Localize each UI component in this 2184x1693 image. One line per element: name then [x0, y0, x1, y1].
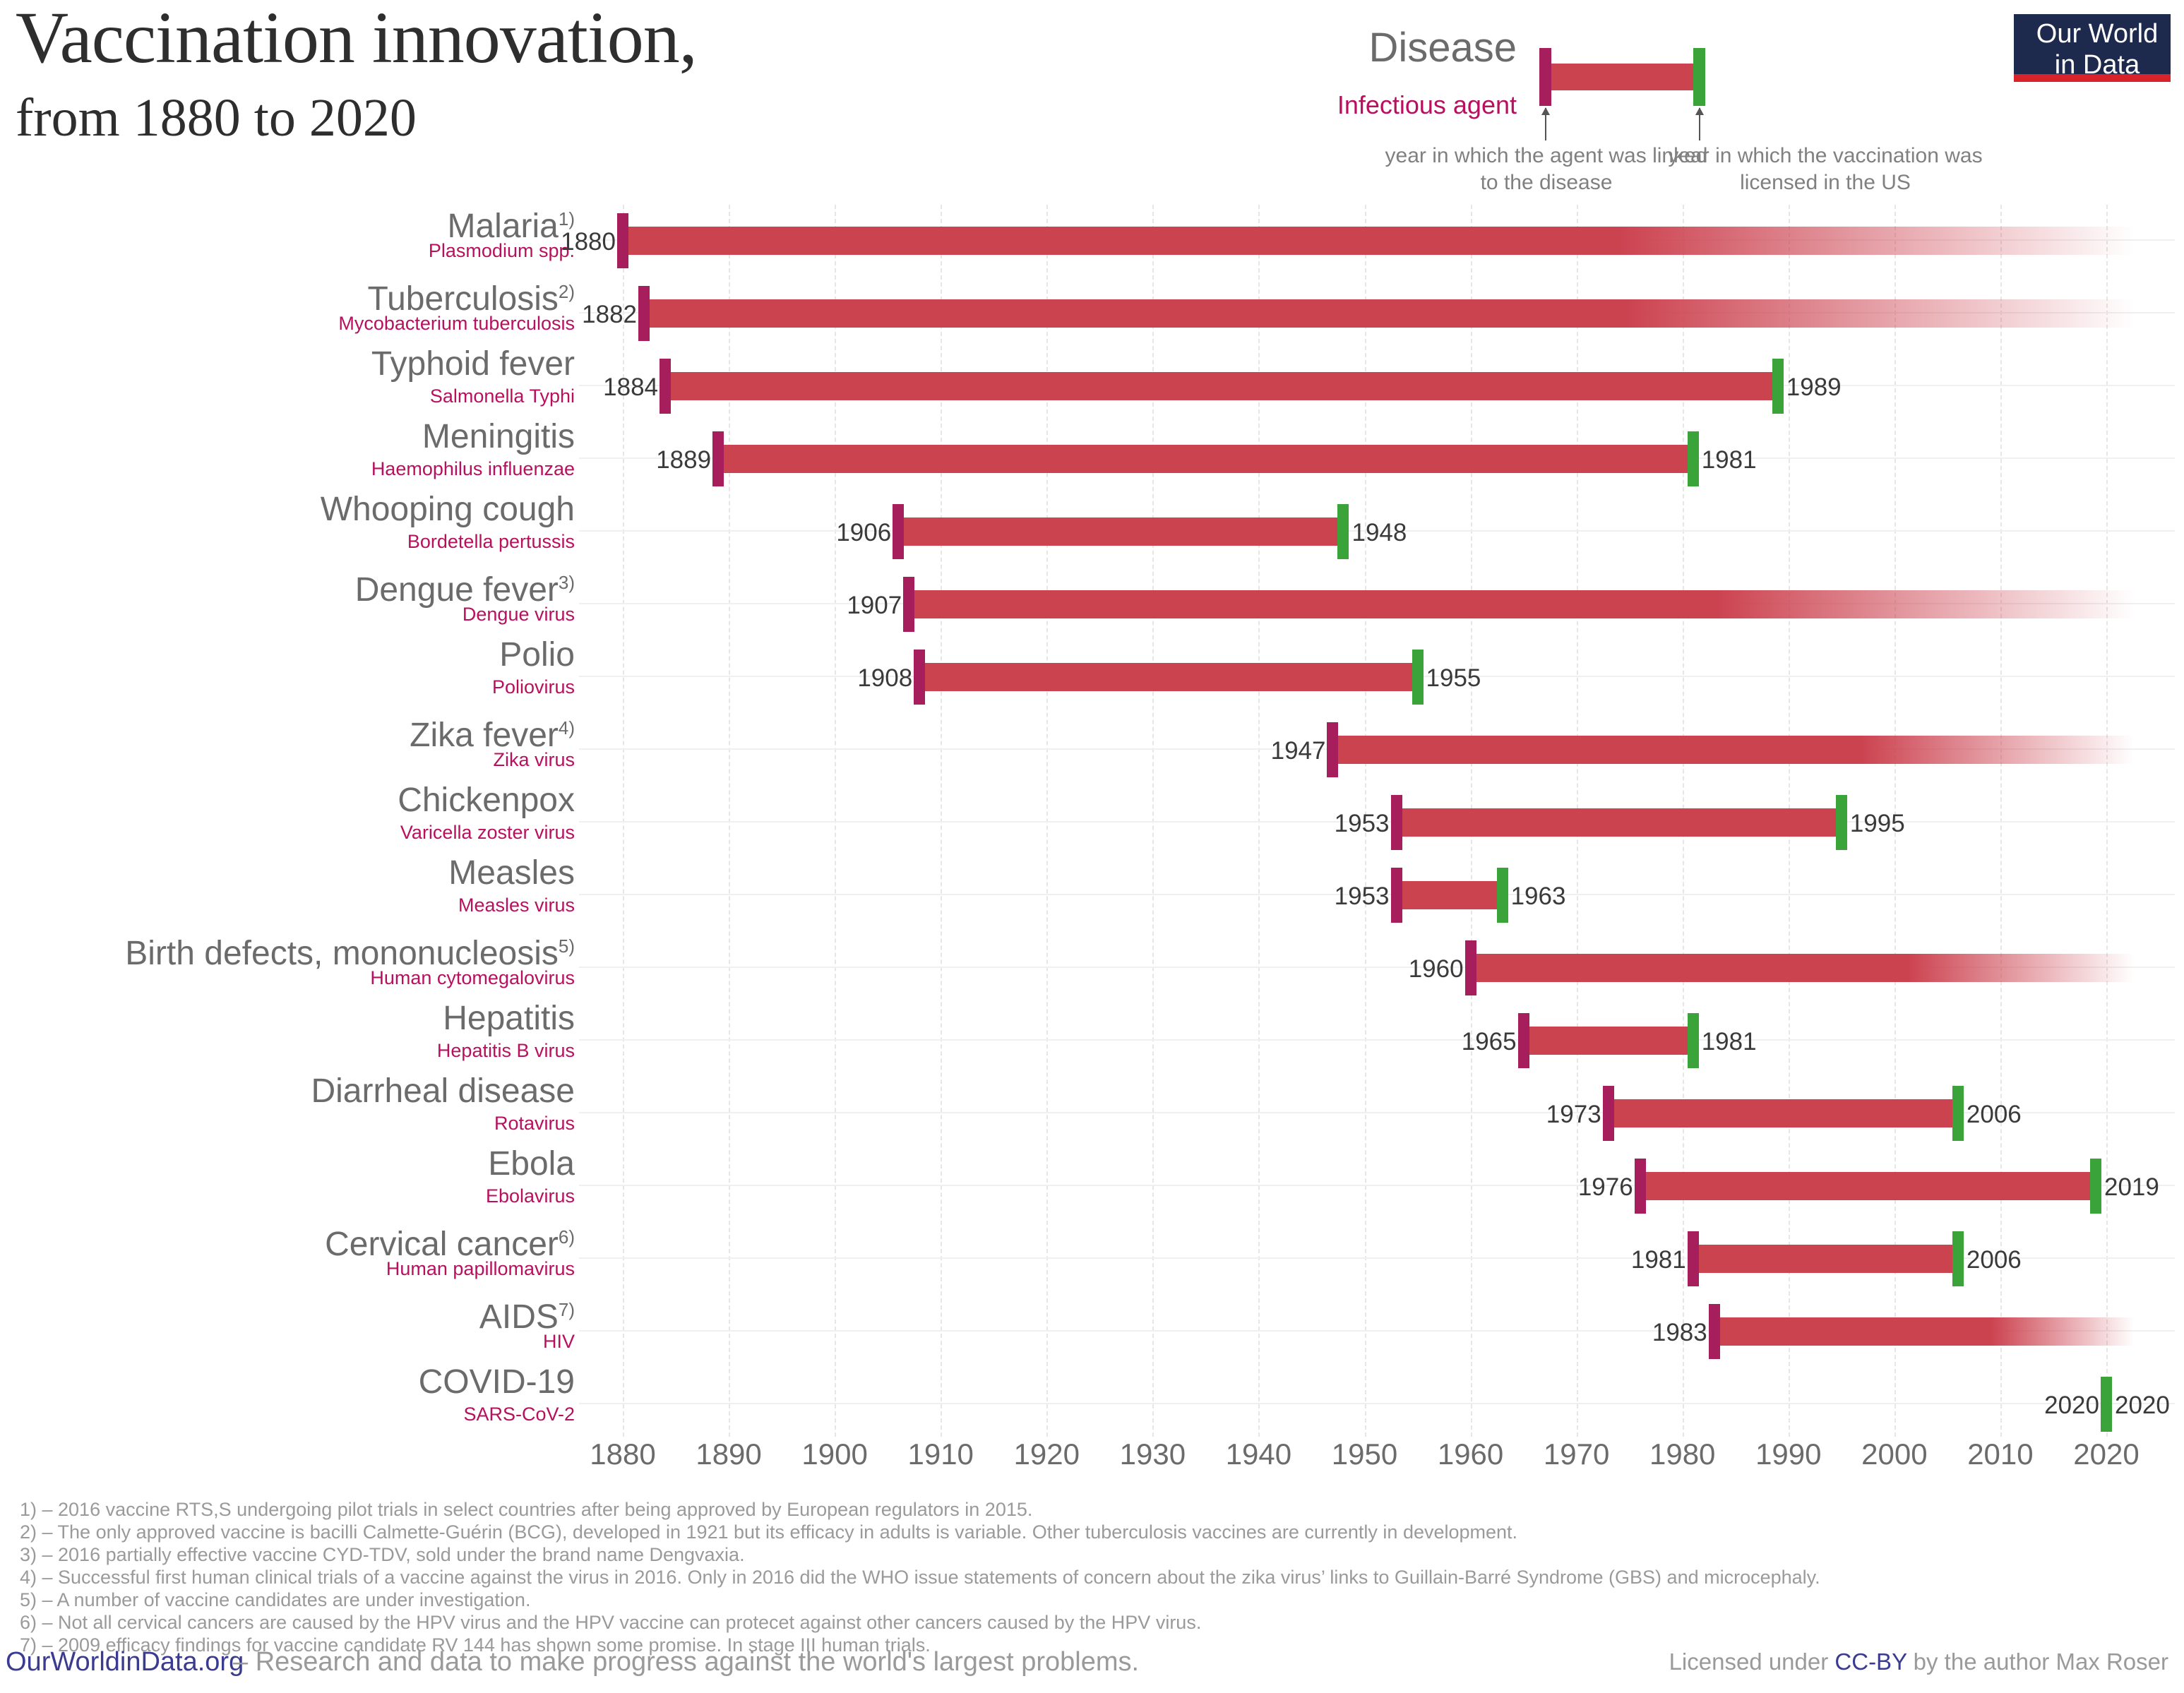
- infectious-agent-name: Mycobacterium tuberculosis: [338, 311, 575, 335]
- infectious-agent-name: Human cytomegalovirus: [370, 966, 575, 990]
- row-label-group: PolioPoliovirus: [0, 641, 580, 714]
- vaccine-licensed-year-marker: [1952, 1086, 1964, 1141]
- disease-name: Ebola: [488, 1144, 575, 1184]
- range-bar[interactable]: [1397, 881, 1503, 909]
- infectious-agent-name: Measles virus: [458, 893, 575, 917]
- end-year-label: 2006: [1967, 1246, 2022, 1274]
- start-year-label: 1906: [836, 519, 891, 547]
- infectious-agent-name: Bordetella pertussis: [407, 530, 575, 554]
- owid-logo-line2: in Data: [2014, 49, 2171, 80]
- owid-site-link[interactable]: OurWorldinData.org: [6, 1645, 244, 1679]
- agent-linked-year-marker: [1465, 940, 1476, 995]
- legend-end-cap: [1693, 48, 1705, 106]
- infectious-agent-name: Haemophilus influenzae: [371, 457, 575, 481]
- end-year-label: 2019: [2104, 1173, 2159, 1202]
- disease-name: Chickenpox: [398, 781, 575, 820]
- chart-row[interactable]: Malaria1)Plasmodium spp.1880: [0, 205, 2184, 277]
- agent-linked-year-marker: [914, 650, 925, 705]
- vaccine-licensed-year-marker: [1688, 431, 1699, 486]
- owid-tagline: – Research and data to make progress aga…: [233, 1645, 1139, 1679]
- footnote: 1) – 2016 vaccine RTS,S undergoing pilot…: [20, 1498, 2166, 1521]
- footnotes-block: 1) – 2016 vaccine RTS,S undergoing pilot…: [20, 1498, 2166, 1656]
- start-year-label: 1947: [1271, 737, 1326, 765]
- row-label-group: EbolaEbolavirus: [0, 1150, 580, 1223]
- range-bar[interactable]: [909, 590, 2134, 618]
- start-year-label: 1908: [857, 664, 912, 693]
- legend-arrow-right-icon: [1699, 108, 1700, 140]
- disease-name: Hepatitis: [443, 999, 575, 1039]
- vaccine-licensed-year-marker: [1772, 359, 1784, 414]
- range-bar[interactable]: [1332, 736, 2134, 764]
- disease-name: Typhoid fever: [371, 345, 575, 384]
- footnote-marker: 1): [559, 208, 575, 229]
- agent-linked-year-marker: [617, 213, 628, 268]
- x-axis: 1880189019001910192019301940195019601970…: [0, 1437, 2184, 1486]
- chart-row[interactable]: MeningitisHaemophilus influenzae18891981: [0, 423, 2184, 496]
- chart-row[interactable]: MeaslesMeasles virus19531963: [0, 859, 2184, 932]
- start-year-label: 1981: [1631, 1246, 1686, 1274]
- x-axis-tick-label: 1950: [1332, 1437, 1397, 1472]
- x-axis-tick-label: 2010: [1967, 1437, 2033, 1472]
- chart-row[interactable]: Cervical cancer6)Human papillomavirus198…: [0, 1223, 2184, 1296]
- page-header: Vaccination innovation, from 1880 to 202…: [0, 0, 2184, 205]
- page-subtitle: from 1880 to 2020: [16, 88, 697, 148]
- vaccine-licensed-year-marker: [2101, 1377, 2112, 1432]
- footnote-marker: 4): [559, 717, 575, 738]
- end-year-label: 1989: [1786, 373, 1842, 402]
- end-year-label: 1995: [1850, 810, 1905, 838]
- legend-start-cap: [1539, 48, 1551, 106]
- range-bar[interactable]: [644, 299, 2134, 328]
- end-year-label: 1981: [1702, 446, 1757, 474]
- vaccine-licensed-year-marker: [1412, 650, 1424, 705]
- end-year-label: 2020: [2115, 1392, 2170, 1420]
- start-year-label: 2020: [2044, 1392, 2099, 1420]
- chart-row[interactable]: Typhoid feverSalmonella Typhi18841989: [0, 350, 2184, 423]
- start-year-label: 1882: [582, 301, 637, 329]
- license-prefix: Licensed under: [1669, 1649, 1835, 1675]
- chart-row[interactable]: ChickenpoxVaricella zoster virus19531995: [0, 786, 2184, 859]
- row-label-group: MeaslesMeasles virus: [0, 859, 580, 932]
- owid-logo[interactable]: Our World in Data: [2014, 14, 2171, 82]
- disease-name: Diarrheal disease: [311, 1072, 575, 1111]
- row-label-group: Dengue fever3)Dengue virus: [0, 568, 580, 641]
- infectious-agent-name: Poliovirus: [492, 675, 575, 699]
- vaccine-licensed-year-marker: [1337, 504, 1349, 559]
- end-year-label: 1948: [1351, 519, 1407, 547]
- footnote-marker: 7): [559, 1299, 575, 1320]
- footnote: 4) – Successful first human clinical tri…: [20, 1566, 2166, 1589]
- chart-row[interactable]: AIDS7)HIV1983: [0, 1296, 2184, 1368]
- vaccine-licensed-year-marker: [2090, 1159, 2101, 1214]
- range-bar[interactable]: [623, 227, 2134, 255]
- range-bar[interactable]: [665, 372, 1778, 400]
- row-label-group: Zika fever4)Zika virus: [0, 714, 580, 786]
- agent-linked-year-marker: [660, 359, 671, 414]
- infectious-agent-name: Plasmodium spp.: [429, 239, 575, 263]
- vaccine-licensed-year-marker: [1952, 1231, 1964, 1286]
- agent-linked-year-marker: [1635, 1159, 1646, 1214]
- row-label-group: COVID-19SARS-CoV-2: [0, 1368, 580, 1441]
- chart-row[interactable]: HepatitisHepatitis B virus19651981: [0, 1005, 2184, 1077]
- disease-name: Meningitis: [422, 417, 575, 457]
- page-footer: OurWorldinData.org – Research and data t…: [0, 1645, 2184, 1687]
- chart-row[interactable]: Birth defects, mononucleosis5)Human cyto…: [0, 932, 2184, 1005]
- infectious-agent-name: Zika virus: [493, 748, 575, 772]
- range-bar[interactable]: [1609, 1099, 1958, 1127]
- x-axis-tick-label: 1900: [801, 1437, 867, 1472]
- start-year-label: 1965: [1462, 1028, 1517, 1056]
- legend-range-bar: [1545, 64, 1699, 90]
- chart-legend: Disease Infectious agent year in which t…: [1363, 14, 2041, 191]
- disease-name: Polio: [499, 635, 575, 675]
- row-label-group: Tuberculosis2)Mycobacterium tuberculosis: [0, 277, 580, 350]
- footnote-marker: 2): [559, 281, 575, 302]
- agent-linked-year-marker: [1391, 795, 1402, 850]
- license-text: Licensed under CC-BY by the author Max R…: [1669, 1645, 2168, 1679]
- infectious-agent-name: Ebolavirus: [486, 1184, 575, 1208]
- range-bar[interactable]: [1524, 1027, 1693, 1055]
- infectious-agent-name: Hepatitis B virus: [437, 1039, 575, 1063]
- range-bar[interactable]: [898, 518, 1343, 546]
- agent-linked-year-marker: [1518, 1013, 1529, 1068]
- title-block: Vaccination innovation, from 1880 to 202…: [16, 1, 697, 148]
- row-label-group: HepatitisHepatitis B virus: [0, 1005, 580, 1077]
- legend-agent-label: Infectious agent: [1337, 90, 1517, 120]
- infectious-agent-name: Rotavirus: [494, 1111, 575, 1135]
- x-axis-tick-label: 1930: [1120, 1437, 1186, 1472]
- agent-linked-year-marker: [1709, 1304, 1720, 1359]
- start-year-label: 1976: [1578, 1173, 1633, 1202]
- start-year-label: 1960: [1409, 955, 1464, 983]
- chart-row[interactable]: Tuberculosis2)Mycobacterium tuberculosis…: [0, 277, 2184, 350]
- chart-row[interactable]: Dengue fever3)Dengue virus1907: [0, 568, 2184, 641]
- end-year-label: 2006: [1967, 1101, 2022, 1129]
- start-year-label: 1973: [1546, 1101, 1601, 1129]
- range-bar[interactable]: [919, 663, 1417, 691]
- range-bar[interactable]: [1714, 1317, 2134, 1346]
- infectious-agent-name: SARS-CoV-2: [463, 1402, 575, 1426]
- disease-name: Measles: [448, 854, 575, 893]
- range-bar[interactable]: [1640, 1172, 2096, 1200]
- start-year-label: 1953: [1335, 883, 1390, 911]
- x-axis-tick-label: 1980: [1649, 1437, 1715, 1472]
- agent-linked-year-marker: [1391, 868, 1402, 923]
- legend-disease-label: Disease: [1368, 24, 1517, 71]
- vaccine-licensed-year-marker: [1836, 795, 1847, 850]
- row-label-group: AIDS7)HIV: [0, 1296, 580, 1368]
- footnote: 3) – 2016 partially effective vaccine CY…: [20, 1543, 2166, 1566]
- vaccine-licensed-year-marker: [1497, 868, 1508, 923]
- footnote: 6) – Not all cervical cancers are caused…: [20, 1611, 2166, 1634]
- disease-name: COVID-19: [419, 1363, 575, 1402]
- page-title: Vaccination innovation,: [16, 1, 697, 75]
- x-axis-tick-label: 1940: [1226, 1437, 1291, 1472]
- row-label-group: Birth defects, mononucleosis5)Human cyto…: [0, 932, 580, 1005]
- footnote-marker: 5): [559, 935, 575, 957]
- row-label-group: Malaria1)Plasmodium spp.: [0, 205, 580, 277]
- vaccine-licensed-year-marker: [1688, 1013, 1699, 1068]
- range-bar[interactable]: [718, 445, 1693, 473]
- footnote-marker: 3): [559, 572, 575, 593]
- cc-by-link[interactable]: CC-BY: [1834, 1649, 1906, 1675]
- legend-arrow-left-icon: [1545, 108, 1546, 140]
- row-label-group: Cervical cancer6)Human papillomavirus: [0, 1223, 580, 1296]
- disease-name: Whooping cough: [321, 490, 575, 530]
- chart-row[interactable]: PolioPoliovirus19081955: [0, 641, 2184, 714]
- x-axis-tick-label: 1890: [696, 1437, 761, 1472]
- agent-linked-year-marker: [893, 504, 904, 559]
- infectious-agent-name: Salmonella Typhi: [430, 384, 575, 408]
- start-year-label: 1880: [561, 228, 616, 256]
- x-axis-tick-label: 1910: [907, 1437, 973, 1472]
- start-year-label: 1884: [603, 373, 658, 402]
- agent-linked-year-marker: [1688, 1231, 1699, 1286]
- license-suffix: by the author Max Roser: [1906, 1649, 2168, 1675]
- legend-note-right: year in which the vaccination was licens…: [1638, 143, 2012, 196]
- infectious-agent-name: Human papillomavirus: [386, 1257, 575, 1281]
- footnote: 5) – A number of vaccine candidates are …: [20, 1589, 2166, 1611]
- start-year-label: 1953: [1335, 810, 1390, 838]
- range-bar[interactable]: [1693, 1245, 1958, 1273]
- agent-linked-year-marker: [1603, 1086, 1614, 1141]
- footnote: 2) – The only approved vaccine is bacill…: [20, 1521, 2166, 1543]
- x-axis-tick-label: 1990: [1755, 1437, 1821, 1472]
- x-axis-tick-label: 2000: [1861, 1437, 1927, 1472]
- range-bar[interactable]: [1397, 808, 1842, 837]
- chart-row[interactable]: COVID-19SARS-CoV-220202020: [0, 1368, 2184, 1441]
- row-label-group: ChickenpoxVaricella zoster virus: [0, 786, 580, 859]
- end-year-label: 1955: [1426, 664, 1481, 693]
- x-axis-tick-label: 1880: [590, 1437, 655, 1472]
- chart-row[interactable]: EbolaEbolavirus19762019: [0, 1150, 2184, 1223]
- x-axis-tick-label: 1920: [1014, 1437, 1080, 1472]
- agent-linked-year-marker: [712, 431, 724, 486]
- range-bar[interactable]: [1471, 954, 2134, 982]
- chart-row[interactable]: Diarrheal diseaseRotavirus19732006: [0, 1077, 2184, 1150]
- x-axis-tick-label: 1960: [1438, 1437, 1503, 1472]
- chart-row[interactable]: Whooping coughBordetella pertussis190619…: [0, 496, 2184, 568]
- row-label-group: Diarrheal diseaseRotavirus: [0, 1077, 580, 1150]
- infectious-agent-name: Dengue virus: [463, 602, 575, 626]
- agent-linked-year-marker: [638, 286, 650, 341]
- owid-logo-line1: Our World: [2014, 18, 2171, 49]
- start-year-label: 1983: [1652, 1319, 1707, 1347]
- footnote-marker: 6): [559, 1226, 575, 1248]
- row-label-group: Typhoid feverSalmonella Typhi: [0, 350, 580, 423]
- start-year-label: 1889: [656, 446, 711, 474]
- chart-row[interactable]: Zika fever4)Zika virus1947: [0, 714, 2184, 786]
- infectious-agent-name: HIV: [543, 1329, 575, 1353]
- infectious-agent-name: Varicella zoster virus: [400, 820, 575, 844]
- row-label-group: MeningitisHaemophilus influenzae: [0, 423, 580, 496]
- end-year-label: 1981: [1702, 1028, 1757, 1056]
- row-label-group: Whooping coughBordetella pertussis: [0, 496, 580, 568]
- chart-area: Malaria1)Plasmodium spp.1880Tuberculosis…: [0, 205, 2184, 1447]
- end-year-label: 1963: [1511, 883, 1566, 911]
- agent-linked-year-marker: [1327, 722, 1338, 777]
- agent-linked-year-marker: [903, 577, 914, 632]
- x-axis-tick-label: 2020: [2073, 1437, 2139, 1472]
- start-year-label: 1907: [847, 592, 902, 620]
- x-axis-tick-label: 1970: [1544, 1437, 1609, 1472]
